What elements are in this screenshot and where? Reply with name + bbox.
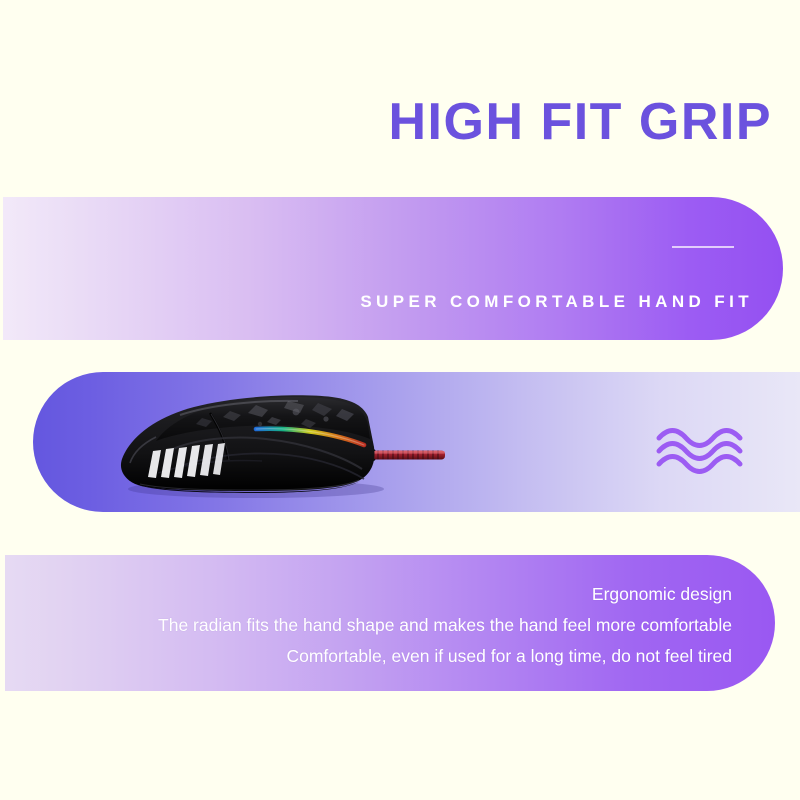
tagline-banner: SUPER COMFORTABLE HAND FIT xyxy=(3,197,783,340)
description-line-3: Comfortable, even if used for a long tim… xyxy=(5,641,732,672)
description-line-1: Ergonomic design xyxy=(5,579,732,610)
divider-line xyxy=(672,246,734,248)
mouse-body xyxy=(121,395,375,493)
tagline-text: SUPER COMFORTABLE HAND FIT xyxy=(360,292,753,312)
description-line-2: The radian fits the hand shape and makes… xyxy=(5,610,732,641)
product-feature-page: HIGH FIT GRIP SUPER COMFORTABLE HAND FIT xyxy=(0,0,800,800)
product-image-mouse xyxy=(60,385,460,500)
description-banner: Ergonomic design The radian fits the han… xyxy=(5,555,775,691)
wave-lines-icon xyxy=(655,425,747,477)
page-title: HIGH FIT GRIP xyxy=(0,96,772,148)
